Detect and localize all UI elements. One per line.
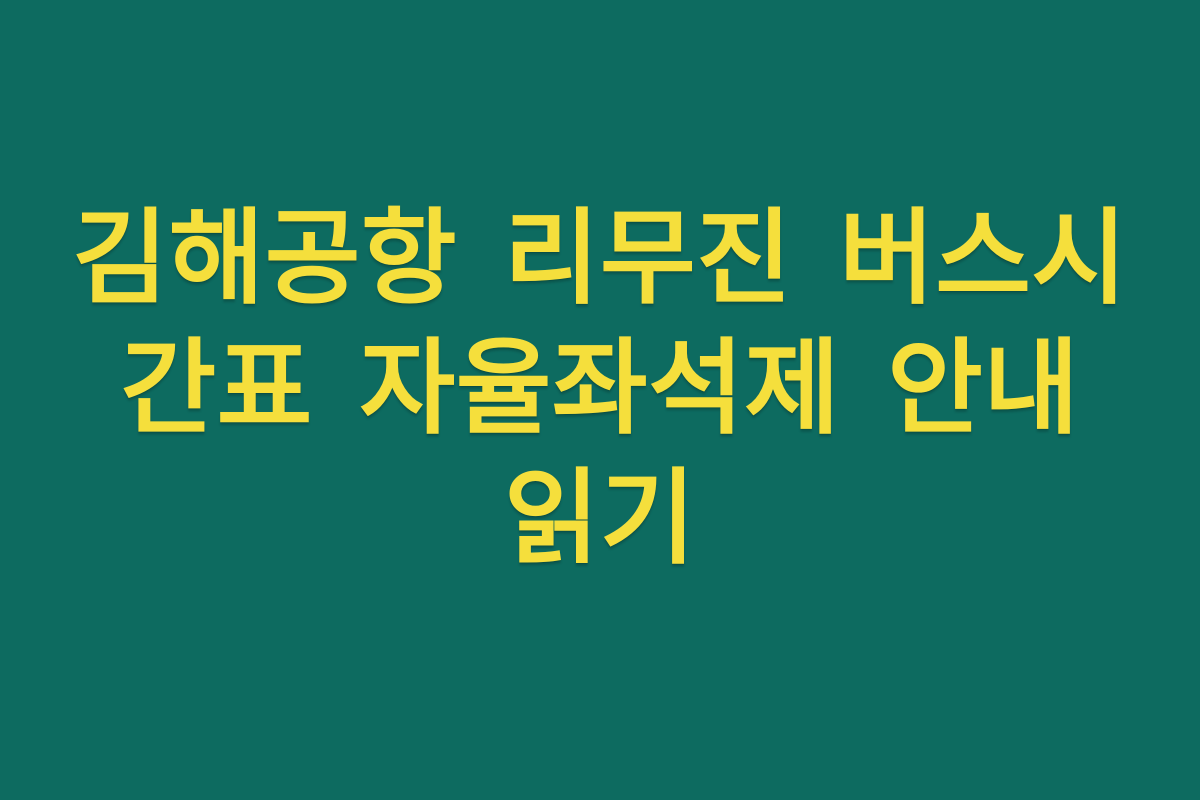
- headline-line-2: 간표 자율좌석제 안내: [70, 323, 1130, 453]
- headline-line-3: 읽기: [70, 453, 1130, 583]
- title-card: 김해공항 리무진 버스시 간표 자율좌석제 안내 읽기: [0, 0, 1200, 800]
- headline-block: 김해공항 리무진 버스시 간표 자율좌석제 안내 읽기: [70, 193, 1130, 583]
- headline-line-1: 김해공항 리무진 버스시: [70, 193, 1130, 323]
